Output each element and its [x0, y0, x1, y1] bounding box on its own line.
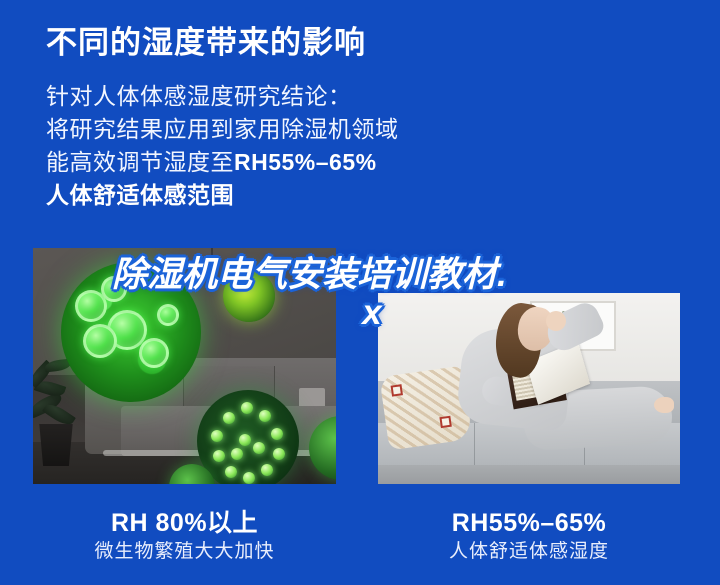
intro-line-4: 人体舒适体感范围 [46, 179, 516, 212]
caption-right-sub: 人体舒适体感湿度 [378, 538, 680, 566]
caption-right-headline: RH55%–65% [378, 508, 680, 538]
side-table [299, 388, 325, 408]
virus-spike [253, 442, 265, 454]
bacteria-cell [83, 324, 117, 358]
photo-comfort-humidity [378, 293, 680, 484]
virus-spike [243, 472, 255, 484]
bacteria-cluster-large [61, 262, 201, 402]
page-title: 不同的湿度带来的影响 [46, 17, 366, 62]
bacteria-cell [157, 304, 179, 326]
bacteria-cell [101, 276, 127, 302]
intro-line-3-value: RH55%–65% [234, 149, 377, 175]
caption-high-humidity: RH 80%以上 微生物繁殖大大加快 [33, 508, 336, 566]
intro-line-3-prefix: 能高效调节湿度至 [46, 149, 234, 175]
photo-high-humidity [33, 248, 336, 484]
bacteria-cluster-small [223, 270, 275, 322]
intro-line-1: 针对人体体感湿度研究结论： [46, 80, 516, 113]
virus-spike [241, 402, 253, 414]
pillow-motif [439, 416, 451, 428]
virus-spike [261, 464, 273, 476]
intro-line-3: 能高效调节湿度至RH55%–65% [46, 146, 516, 179]
virus-spike [231, 448, 243, 460]
virus-spike [271, 428, 283, 440]
virus-spike [273, 448, 285, 460]
virus-spike [213, 450, 225, 462]
virus-spike [239, 434, 251, 446]
virus-spike [225, 466, 237, 478]
plant-pot [37, 424, 75, 466]
pendant-cord [211, 248, 213, 270]
pillow-motif [391, 384, 403, 396]
couch-seam [474, 423, 475, 465]
person-hand [546, 311, 566, 331]
virus-spike [223, 412, 235, 424]
intro-line-2: 将研究结果应用到家用除湿机领域 [46, 113, 516, 146]
room-floor [378, 465, 680, 484]
bacteria-cell [139, 338, 169, 368]
intro-block: 针对人体体感湿度研究结论： 将研究结果应用到家用除湿机领域 能高效调节湿度至RH… [46, 80, 516, 212]
virus-sphere [197, 390, 299, 484]
caption-left-headline: RH 80%以上 [33, 508, 336, 538]
caption-left-sub: 微生物繁殖大大加快 [33, 538, 336, 566]
virus-spike [211, 430, 223, 442]
promo-graphic: 不同的湿度带来的影响 针对人体体感湿度研究结论： 将研究结果应用到家用除湿机领域… [0, 0, 720, 585]
virus-spike [259, 410, 271, 422]
person-foot [654, 397, 674, 413]
caption-comfort-humidity: RH55%–65% 人体舒适体感湿度 [378, 508, 680, 566]
